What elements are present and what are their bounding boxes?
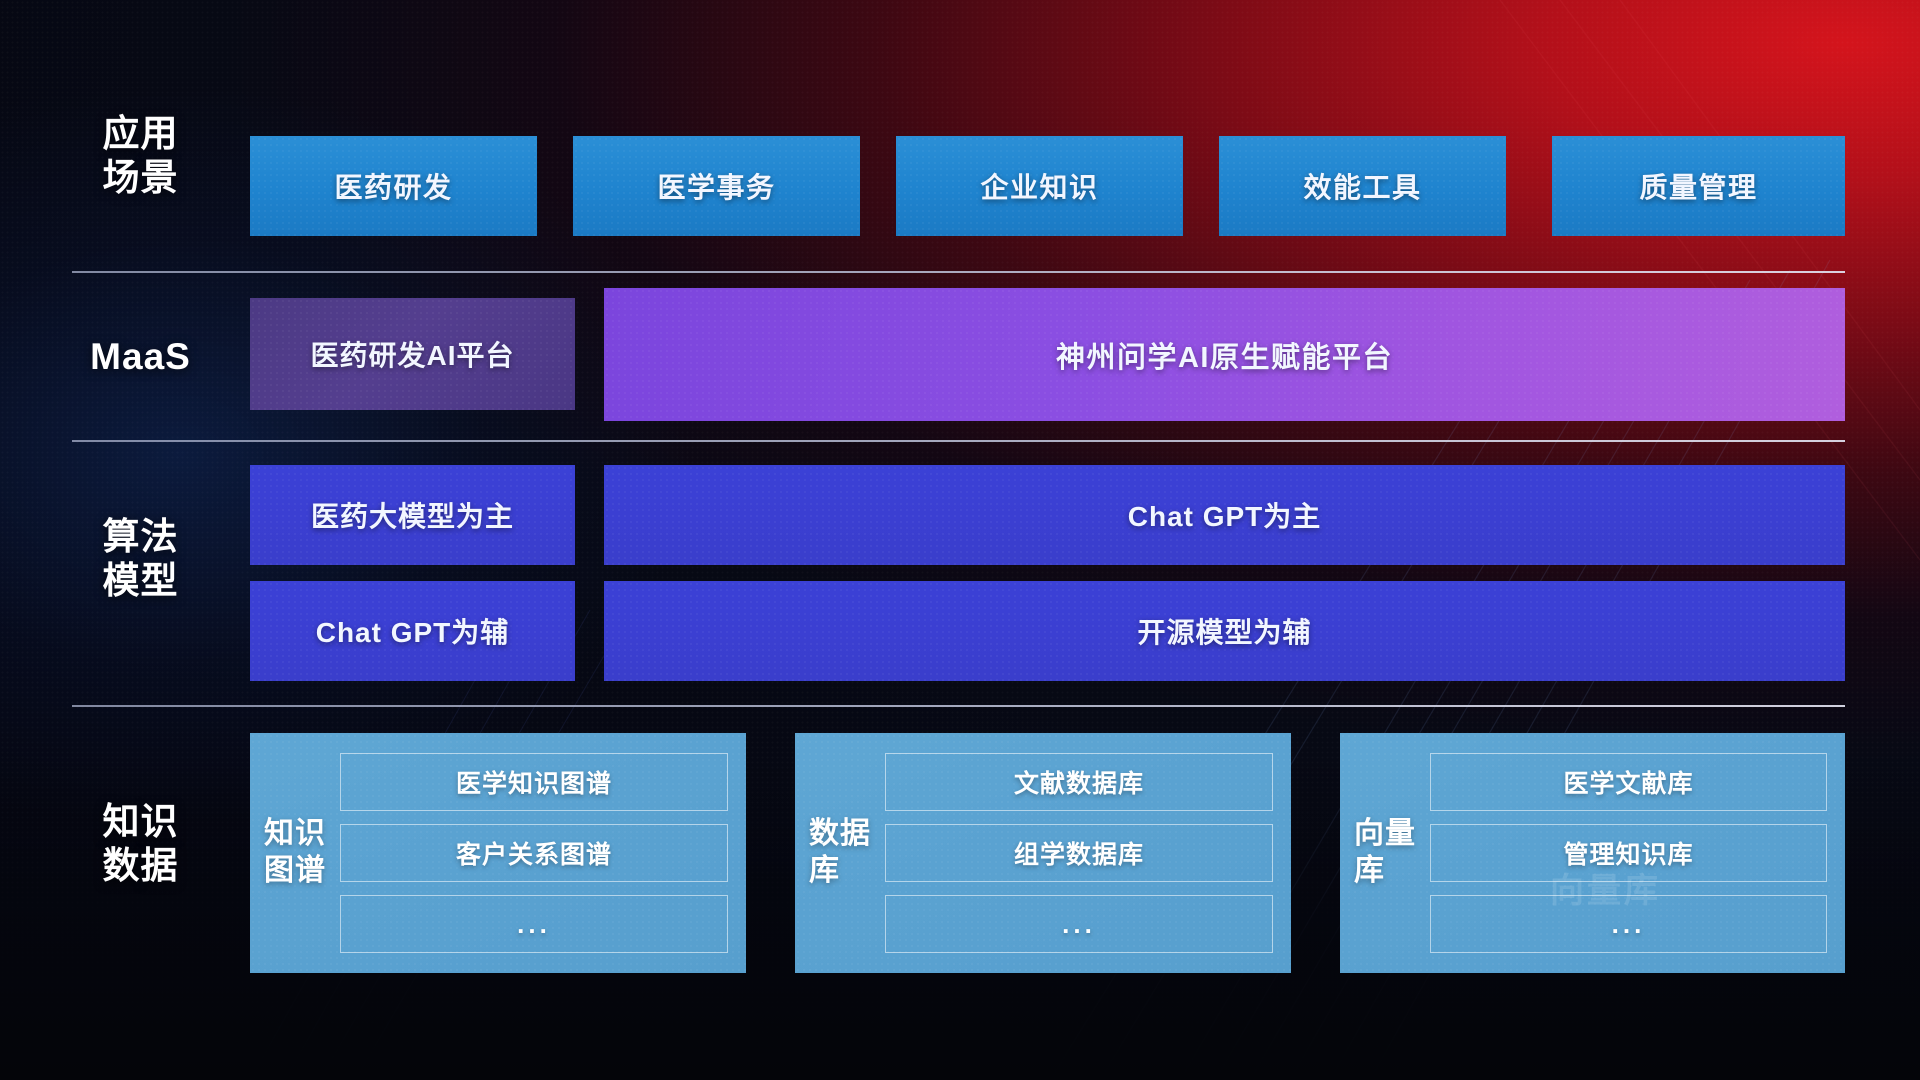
knowledge-item[interactable]: 管理知识库 [1430, 824, 1827, 882]
application-box-5-label: 质量管理 [1639, 166, 1757, 206]
knowledge-panel-database[interactable]: 数据库 文献数据库 组学数据库 ... [795, 733, 1291, 973]
knowledge-panel-3-title: 向量库 [1354, 747, 1416, 959]
knowledge-panel-1-title: 知识图谱 [264, 747, 326, 959]
row-label-maas: MaaS [78, 335, 203, 379]
divider-application-maas [72, 271, 1845, 273]
knowledge-panel-3-items: 医学文献库 管理知识库 ... [1430, 747, 1827, 959]
knowledge-panel-1-items: 医学知识图谱 客户关系图谱 ... [340, 747, 728, 959]
knowledge-panel-knowledge-graph[interactable]: 知识图谱 医学知识图谱 客户关系图谱 ... [250, 733, 746, 973]
divider-algorithm-knowledge [72, 705, 1845, 707]
application-box-1[interactable]: 医药研发 [250, 136, 537, 236]
algorithm-box-chatgpt-secondary-label: Chat GPT为辅 [316, 611, 510, 651]
row-label-algorithm: 算法 模型 [78, 515, 203, 603]
application-box-1-label: 医药研发 [334, 166, 452, 206]
knowledge-item-more[interactable]: ... [1430, 895, 1827, 953]
row-label-knowledge: 知识 数据 [78, 800, 203, 888]
algorithm-box-chatgpt-primary-label: Chat GPT为主 [1128, 495, 1322, 535]
knowledge-panel-2-title: 数据库 [809, 747, 871, 959]
application-box-2-label: 医学事务 [657, 166, 775, 206]
application-box-3[interactable]: 企业知识 [896, 136, 1183, 236]
maas-box-pharma-platform[interactable]: 医药研发AI平台 [250, 298, 575, 410]
application-box-3-label: 企业知识 [980, 166, 1098, 206]
knowledge-item[interactable]: 医学知识图谱 [340, 753, 728, 811]
algorithm-box-opensource-secondary-label: 开源模型为辅 [1137, 611, 1311, 651]
maas-box-pharma-platform-label: 医药研发AI平台 [310, 334, 514, 374]
application-box-4-label: 效能工具 [1303, 166, 1421, 206]
row-label-application: 应用 场景 [78, 112, 203, 200]
application-box-5[interactable]: 质量管理 [1552, 136, 1845, 236]
algorithm-box-chatgpt-secondary[interactable]: Chat GPT为辅 [250, 581, 575, 681]
algorithm-box-pharma-primary-label: 医药大模型为主 [311, 495, 514, 535]
knowledge-item[interactable]: 客户关系图谱 [340, 824, 728, 882]
divider-maas-algorithm [72, 440, 1845, 442]
knowledge-item[interactable]: 组学数据库 [885, 824, 1273, 882]
architecture-diagram-canvas: 应用 场景 医药研发 医学事务 企业知识 效能工具 质量管理 MaaS 医药研发… [0, 0, 1920, 1080]
maas-box-shenzhou-platform[interactable]: 神州问学AI原生赋能平台 [604, 288, 1845, 421]
algorithm-box-pharma-primary[interactable]: 医药大模型为主 [250, 465, 575, 565]
knowledge-panel-vector-store[interactable]: 向量库 向量库 医学文献库 管理知识库 ... [1340, 733, 1845, 973]
knowledge-panel-2-items: 文献数据库 组学数据库 ... [885, 747, 1273, 959]
algorithm-box-opensource-secondary[interactable]: 开源模型为辅 [604, 581, 1845, 681]
application-box-4[interactable]: 效能工具 [1219, 136, 1506, 236]
maas-box-shenzhou-platform-label: 神州问学AI原生赋能平台 [1056, 334, 1393, 376]
application-box-2[interactable]: 医学事务 [573, 136, 860, 236]
knowledge-item-more[interactable]: ... [340, 895, 728, 953]
knowledge-item-more[interactable]: ... [885, 895, 1273, 953]
knowledge-item[interactable]: 文献数据库 [885, 753, 1273, 811]
knowledge-item[interactable]: 医学文献库 [1430, 753, 1827, 811]
algorithm-box-chatgpt-primary[interactable]: Chat GPT为主 [604, 465, 1845, 565]
